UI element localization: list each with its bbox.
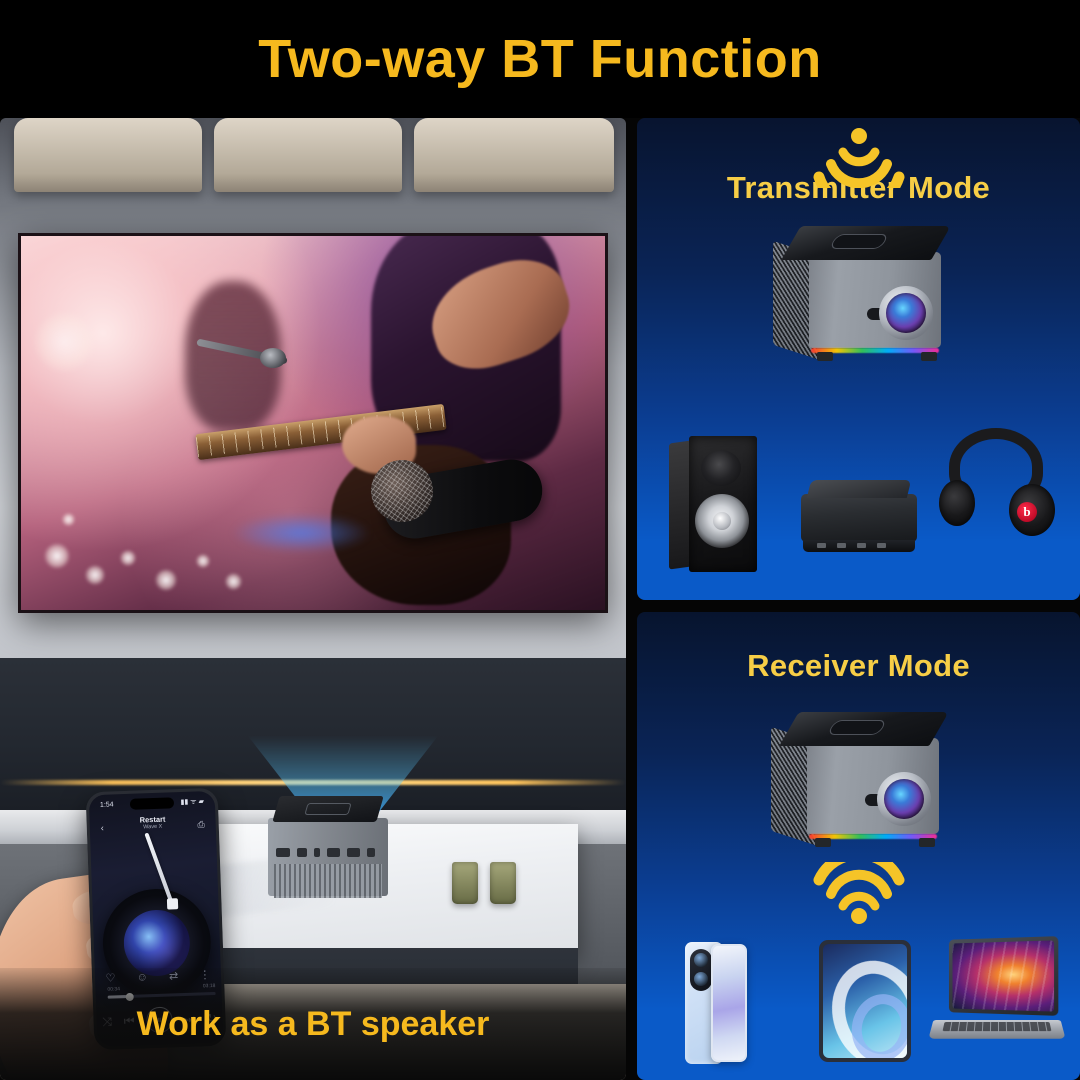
bt-soundbox <box>801 480 917 554</box>
sofa-cushion <box>414 118 614 192</box>
receiver-mode-title: Receiver Mode <box>637 648 1080 684</box>
projector-transmitter <box>773 226 953 361</box>
speaker-woofer <box>695 494 749 548</box>
projector-foot <box>919 838 935 847</box>
projector-lens-ring <box>879 286 933 340</box>
speaker-face <box>689 436 757 572</box>
projected-image <box>21 236 605 610</box>
stage-blue-light <box>231 513 371 553</box>
bokeh-light <box>196 554 210 568</box>
projector-foot <box>815 838 831 847</box>
projector-foot <box>921 352 937 361</box>
laptop-base <box>928 1020 1065 1039</box>
bokeh-light <box>85 565 105 585</box>
projector-lens <box>884 779 924 819</box>
speaker-tweeter <box>701 450 741 486</box>
receiver-mode-panel: Receiver Mode <box>637 612 1080 1080</box>
projector-body <box>809 252 941 348</box>
bokeh-light <box>33 311 95 373</box>
drinking-glass <box>490 862 516 904</box>
bokeh-light <box>120 550 136 566</box>
phone-camera-module <box>690 949 712 991</box>
sofa-cushion <box>214 118 402 192</box>
caption-text: Work as a BT speaker <box>137 1005 490 1044</box>
projector-foot <box>817 352 833 361</box>
laptop-keyboard[interactable] <box>943 1022 1052 1031</box>
bokeh-light <box>44 543 70 569</box>
album-artwork <box>123 909 191 977</box>
tablet-device <box>819 940 911 1062</box>
projector-receiver <box>771 712 951 847</box>
laptop-device <box>931 938 1063 1042</box>
sofa-cushion <box>14 118 202 192</box>
headphones: b <box>941 428 1051 546</box>
stage-microphone <box>260 348 286 368</box>
soundbox-top <box>807 480 911 498</box>
transmitter-mode-panel: Transmitter Mode /* positioning anchor *… <box>637 118 1080 600</box>
projector-device-scene <box>268 796 388 900</box>
phone-notch <box>130 797 174 810</box>
tablet-frame <box>819 940 911 1062</box>
bt-speaker-scene-panel: 1:54 ▮▮ ᯤ ▰ ‹ ⎙ Restart Wave X ♡ ☺ ⇄ ⋮ <box>0 118 626 1080</box>
projection-screen <box>18 233 608 613</box>
soundbox-indicator-leds <box>817 543 886 548</box>
projector-ports <box>276 846 380 858</box>
headphone-ear-cup <box>939 480 975 526</box>
caption-bar: Work as a BT speaker <box>0 968 626 1080</box>
bokeh-light <box>225 573 242 590</box>
projector-body <box>807 738 939 834</box>
wifi-receive-icon <box>813 862 905 924</box>
studio-speaker <box>669 436 757 572</box>
title-bar: Two-way BT Function <box>0 0 1080 118</box>
page-title: Two-way BT Function <box>258 28 821 90</box>
beats-logo-icon: b <box>1017 502 1037 522</box>
drinking-glass <box>452 862 478 904</box>
projector-touch-controls[interactable] <box>304 803 351 815</box>
tablet-screen <box>823 944 907 1058</box>
soundbox-body <box>801 494 917 542</box>
bokeh-light <box>155 569 177 591</box>
projector-lens <box>886 293 926 333</box>
laptop-screen <box>953 940 1055 1011</box>
projector-vents <box>274 864 382 898</box>
phone-clock: 1:54 <box>100 801 114 808</box>
laptop-lid <box>949 936 1058 1016</box>
phone-front-display <box>711 944 747 1062</box>
bokeh-light <box>62 513 75 526</box>
projector-lens-ring <box>877 772 931 826</box>
smartphone-device <box>685 942 747 1064</box>
bluetooth-transmit-icon <box>813 128 905 188</box>
projector-body <box>268 818 388 896</box>
speaker-side <box>669 440 691 569</box>
phone-status-icons: ▮▮ ᯤ ▰ <box>180 797 204 807</box>
